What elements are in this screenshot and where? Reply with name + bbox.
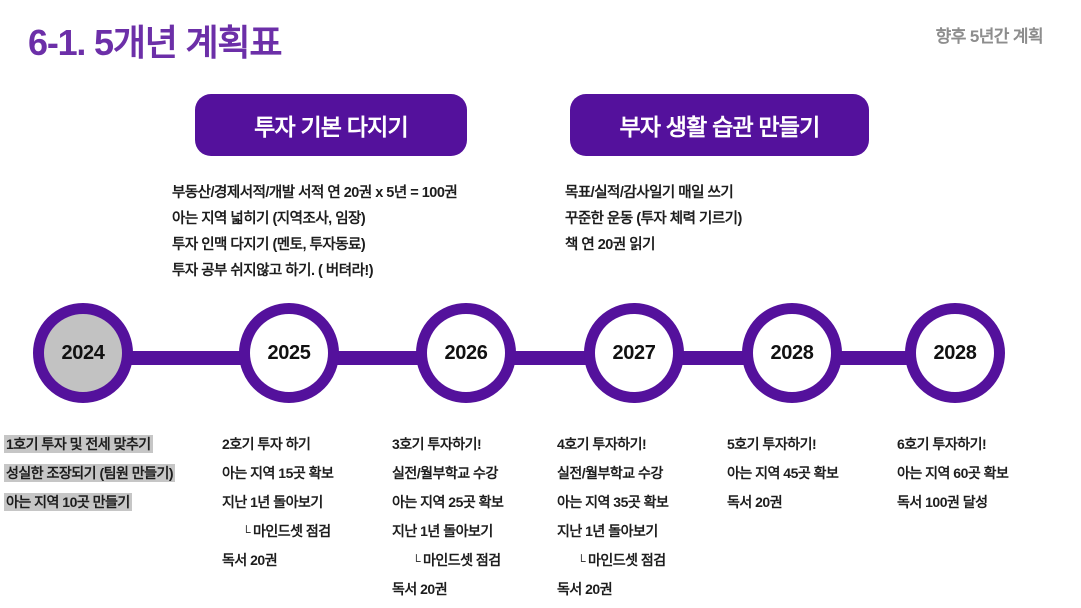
timeline-node-1[interactable]: 2024 bbox=[33, 303, 133, 403]
goal-item: 투자 공부 쉬지않고 하기. ( 버텨라!) bbox=[172, 258, 457, 284]
goal-item: 투자 인맥 다지기 (멘토, 투자동료) bbox=[172, 232, 457, 258]
detail-item: 독서 20권 bbox=[727, 488, 838, 517]
detail-subitem: └마인드셋 점검 bbox=[222, 517, 333, 546]
detail-item-label: 실전/월부학교 수강 bbox=[392, 465, 498, 481]
detail-item-label: 독서 20권 bbox=[727, 494, 782, 510]
detail-column-6: 6호기 투자하기!아는 지역 60곳 확보독서 100권 달성 bbox=[897, 430, 1008, 517]
timeline-connector bbox=[121, 351, 251, 365]
timeline-node-6[interactable]: 2028 bbox=[905, 303, 1005, 403]
detail-item-label: 독서 20권 bbox=[557, 581, 612, 597]
timeline-node-4[interactable]: 2027 bbox=[584, 303, 684, 403]
detail-item-label: 아는 지역 10곳 만들기 bbox=[4, 493, 132, 511]
detail-item: 1호기 투자 및 전세 맞추기 bbox=[4, 430, 175, 459]
detail-item-label: 1호기 투자 및 전세 맞추기 bbox=[4, 435, 153, 453]
goal-list-investment-basics: 부동산/경제서적/개발 서적 연 20권 x 5년 = 100권아는 지역 넓히… bbox=[172, 180, 457, 284]
detail-item-label: 마인드셋 점검 bbox=[588, 552, 666, 568]
detail-item-label: 아는 지역 25곳 확보 bbox=[392, 494, 503, 510]
detail-item: 지난 1년 돌아보기 bbox=[392, 517, 503, 546]
detail-item-label: 2호기 투자 하기 bbox=[222, 436, 310, 452]
detail-item-label: 아는 지역 35곳 확보 bbox=[557, 494, 668, 510]
detail-subitem: └마인드셋 점검 bbox=[392, 546, 503, 575]
timeline-node-year: 2026 bbox=[445, 342, 488, 365]
slide-canvas: 6-1. 5개년 계획표 향후 5년간 계획 투자 기본 다지기 부자 생활 습… bbox=[0, 0, 1081, 608]
timeline-node-5[interactable]: 2028 bbox=[742, 303, 842, 403]
detail-item: 아는 지역 60곳 확보 bbox=[897, 459, 1008, 488]
goal-item: 목표/실적/감사일기 매일 쓰기 bbox=[565, 180, 742, 206]
timeline-node-year: 2027 bbox=[613, 342, 656, 365]
detail-item-label: 4호기 투자하기! bbox=[557, 436, 646, 452]
subitem-branch-icon: └ bbox=[412, 554, 423, 568]
timeline-node-year: 2028 bbox=[934, 342, 977, 365]
header-note: 향후 5년간 계획 bbox=[936, 22, 1043, 47]
detail-column-4: 4호기 투자하기!실전/월부학교 수강아는 지역 35곳 확보지난 1년 돌아보… bbox=[557, 430, 668, 604]
detail-item: 6호기 투자하기! bbox=[897, 430, 1008, 459]
detail-column-2: 2호기 투자 하기아는 지역 15곳 확보지난 1년 돌아보기└마인드셋 점검독… bbox=[222, 430, 333, 575]
timeline-node-2[interactable]: 2025 bbox=[239, 303, 339, 403]
detail-item-label: 지난 1년 돌아보기 bbox=[222, 494, 323, 510]
detail-item: 지난 1년 돌아보기 bbox=[222, 488, 333, 517]
detail-item: 아는 지역 10곳 만들기 bbox=[4, 488, 175, 517]
detail-column-1: 1호기 투자 및 전세 맞추기성실한 조장되기 (팀원 만들기)아는 지역 10… bbox=[4, 430, 175, 517]
detail-item: 5호기 투자하기! bbox=[727, 430, 838, 459]
detail-item-label: 마인드셋 점검 bbox=[423, 552, 501, 568]
detail-item-label: 마인드셋 점검 bbox=[253, 523, 331, 539]
timeline-node-year: 2025 bbox=[268, 342, 311, 365]
detail-item-label: 5호기 투자하기! bbox=[727, 436, 816, 452]
timeline: 202420252026202720282028 bbox=[0, 295, 1081, 423]
detail-item: 실전/월부학교 수강 bbox=[392, 459, 503, 488]
detail-item: 아는 지역 15곳 확보 bbox=[222, 459, 333, 488]
timeline-node-year: 2028 bbox=[771, 342, 814, 365]
detail-item: 4호기 투자하기! bbox=[557, 430, 668, 459]
subitem-branch-icon: └ bbox=[577, 554, 588, 568]
goal-item: 꾸준한 운동 (투자 체력 기르기) bbox=[565, 206, 742, 232]
detail-item-label: 지난 1년 돌아보기 bbox=[557, 523, 658, 539]
detail-item-label: 독서 20권 bbox=[222, 552, 277, 568]
detail-item-label: 성실한 조장되기 (팀원 만들기) bbox=[4, 464, 175, 482]
detail-item-label: 독서 20권 bbox=[392, 581, 447, 597]
timeline-connector bbox=[327, 351, 428, 365]
detail-item: 3호기 투자하기! bbox=[392, 430, 503, 459]
detail-item-label: 아는 지역 60곳 확보 bbox=[897, 465, 1008, 481]
detail-item: 독서 100권 달성 bbox=[897, 488, 1008, 517]
detail-item-label: 3호기 투자하기! bbox=[392, 436, 481, 452]
detail-item: 아는 지역 35곳 확보 bbox=[557, 488, 668, 517]
timeline-node-3[interactable]: 2026 bbox=[416, 303, 516, 403]
goal-list-rich-habits: 목표/실적/감사일기 매일 쓰기꾸준한 운동 (투자 체력 기르기)책 연 20… bbox=[565, 180, 742, 258]
banner-pill-investment-basics: 투자 기본 다지기 bbox=[195, 94, 467, 156]
detail-item-label: 지난 1년 돌아보기 bbox=[392, 523, 493, 539]
detail-item-label: 아는 지역 45곳 확보 bbox=[727, 465, 838, 481]
detail-item: 아는 지역 45곳 확보 bbox=[727, 459, 838, 488]
detail-item: 실전/월부학교 수강 bbox=[557, 459, 668, 488]
detail-item: 아는 지역 25곳 확보 bbox=[392, 488, 503, 517]
detail-item: 지난 1년 돌아보기 bbox=[557, 517, 668, 546]
detail-item: 독서 20권 bbox=[392, 575, 503, 604]
timeline-connector bbox=[830, 351, 917, 365]
page-title: 6-1. 5개년 계획표 bbox=[28, 14, 281, 66]
detail-item-label: 실전/월부학교 수강 bbox=[557, 465, 663, 481]
detail-item-label: 6호기 투자하기! bbox=[897, 436, 986, 452]
detail-item: 독서 20권 bbox=[557, 575, 668, 604]
timeline-connector bbox=[504, 351, 596, 365]
detail-item-label: 독서 100권 달성 bbox=[897, 494, 988, 510]
detail-column-5: 5호기 투자하기!아는 지역 45곳 확보독서 20권 bbox=[727, 430, 838, 517]
banner-pill-label: 부자 생활 습관 만들기 bbox=[619, 108, 819, 142]
detail-item: 2호기 투자 하기 bbox=[222, 430, 333, 459]
detail-item-label: 아는 지역 15곳 확보 bbox=[222, 465, 333, 481]
detail-subitem: └마인드셋 점검 bbox=[557, 546, 668, 575]
detail-column-3: 3호기 투자하기!실전/월부학교 수강아는 지역 25곳 확보지난 1년 돌아보… bbox=[392, 430, 503, 604]
goal-item: 책 연 20권 읽기 bbox=[565, 232, 742, 258]
detail-item: 독서 20권 bbox=[222, 546, 333, 575]
timeline-node-year: 2024 bbox=[62, 342, 105, 365]
goal-item: 아는 지역 넓히기 (지역조사, 임장) bbox=[172, 206, 457, 232]
detail-item: 성실한 조장되기 (팀원 만들기) bbox=[4, 459, 175, 488]
banner-pill-label: 투자 기본 다지기 bbox=[254, 108, 408, 142]
banner-pill-rich-habits: 부자 생활 습관 만들기 bbox=[570, 94, 869, 156]
goal-item: 부동산/경제서적/개발 서적 연 20권 x 5년 = 100권 bbox=[172, 180, 457, 206]
subitem-branch-icon: └ bbox=[242, 525, 253, 539]
